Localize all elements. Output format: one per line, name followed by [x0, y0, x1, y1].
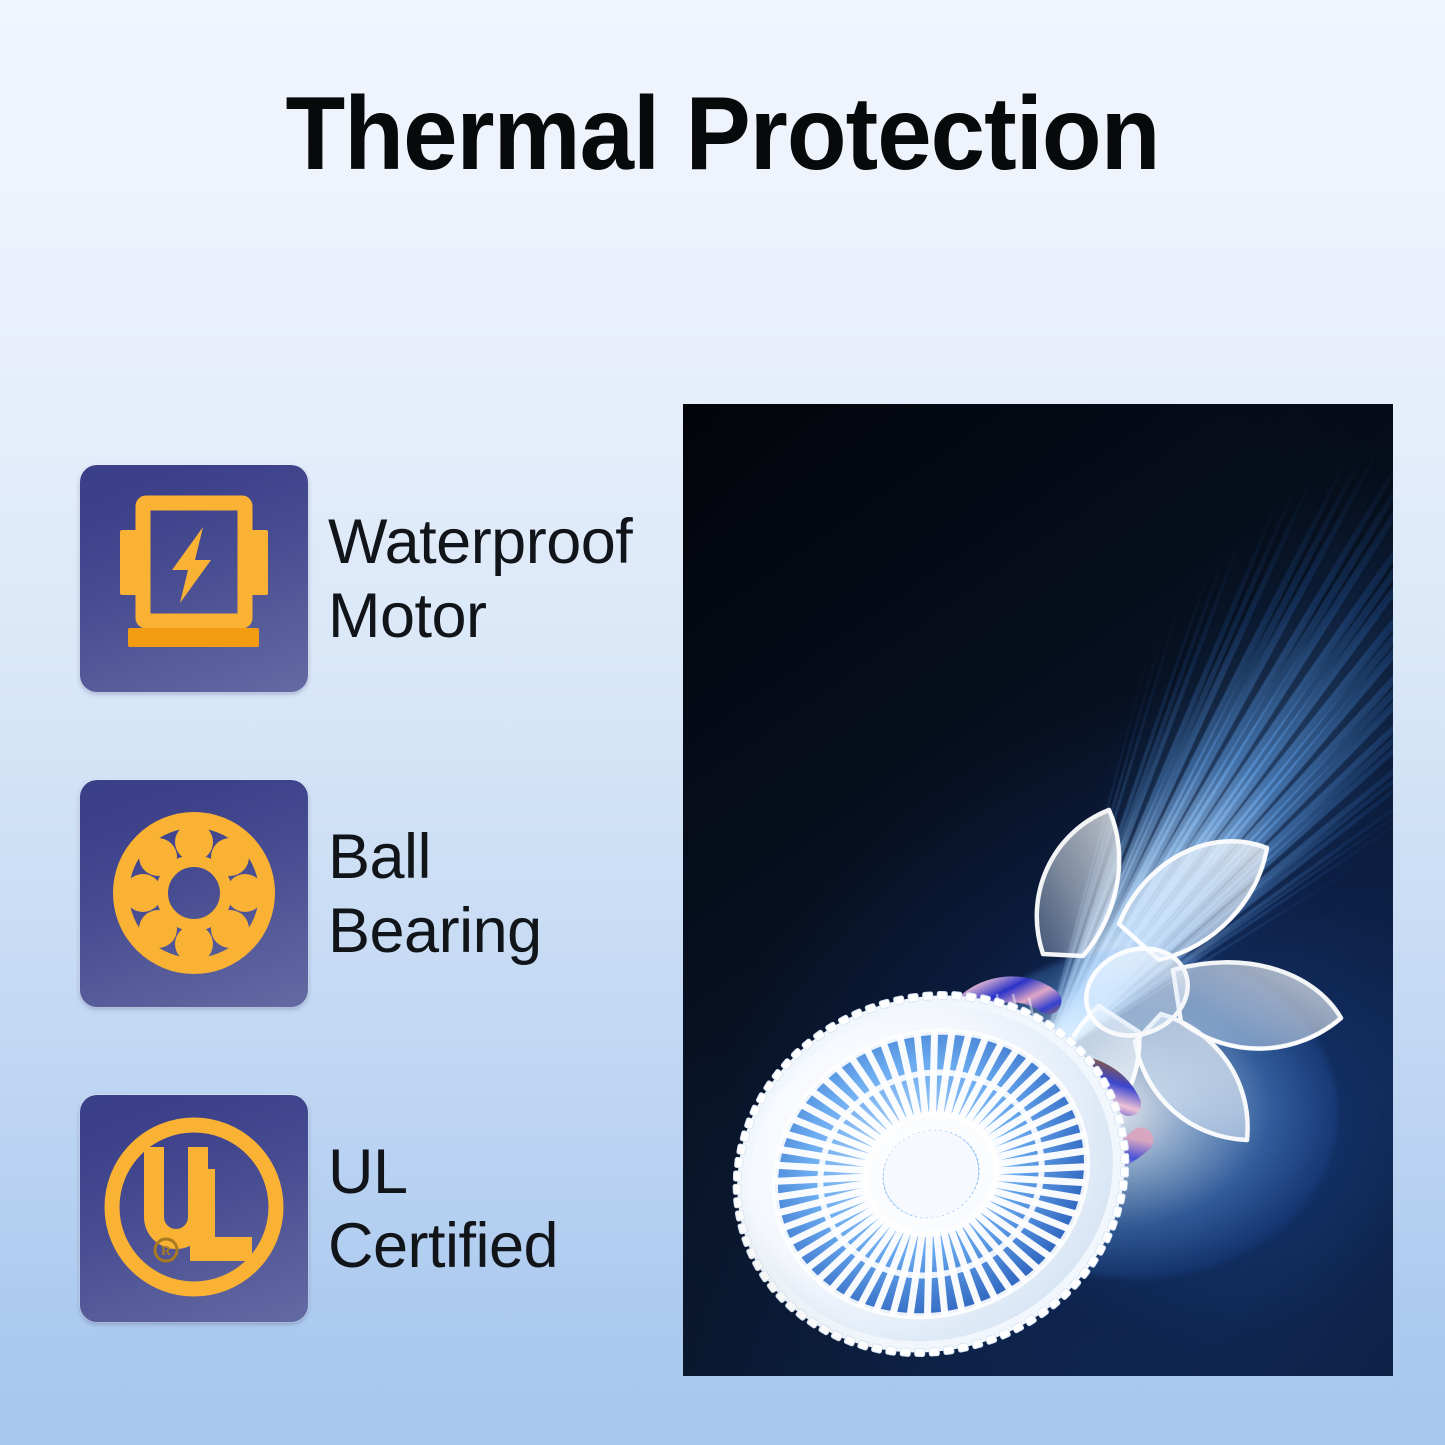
waterproof-motor-icon-tile [80, 465, 308, 692]
ball-bearing-icon [80, 780, 308, 1007]
feature-label-ul-certified: UL Certified [328, 1095, 558, 1322]
ball-bearing-icon-tile [80, 780, 308, 1007]
page-title: Thermal Protection [43, 78, 1401, 190]
feature-label-line1: Waterproof [328, 505, 632, 579]
feature-label-line2: Motor [328, 579, 632, 653]
registered-mark-glyph: R [161, 1244, 172, 1259]
fan-motor-cutaway-photo [683, 404, 1393, 1376]
feature-label-ball-bearing: Ball Bearing [328, 780, 542, 1007]
feature-item-waterproof-motor: Waterproof Motor [80, 465, 680, 692]
waterproof-motor-icon [80, 465, 308, 692]
feature-item-ul-certified: R UL Certified [80, 1095, 680, 1322]
feature-label-line1: Ball [328, 820, 542, 894]
feature-label-line2: Bearing [328, 894, 542, 968]
fan-grille [721, 974, 1141, 1374]
infographic-page: Thermal Protection Waterp [0, 0, 1445, 1445]
ul-certified-icon: R [80, 1095, 308, 1322]
feature-list: Waterproof Motor [80, 465, 680, 1322]
feature-label-line1: UL [328, 1135, 558, 1209]
feature-label-line2: Certified [328, 1209, 558, 1283]
feature-label-waterproof-motor: Waterproof Motor [328, 465, 632, 692]
ul-certified-icon-tile: R [80, 1095, 308, 1322]
feature-item-ball-bearing: Ball Bearing [80, 780, 680, 1007]
